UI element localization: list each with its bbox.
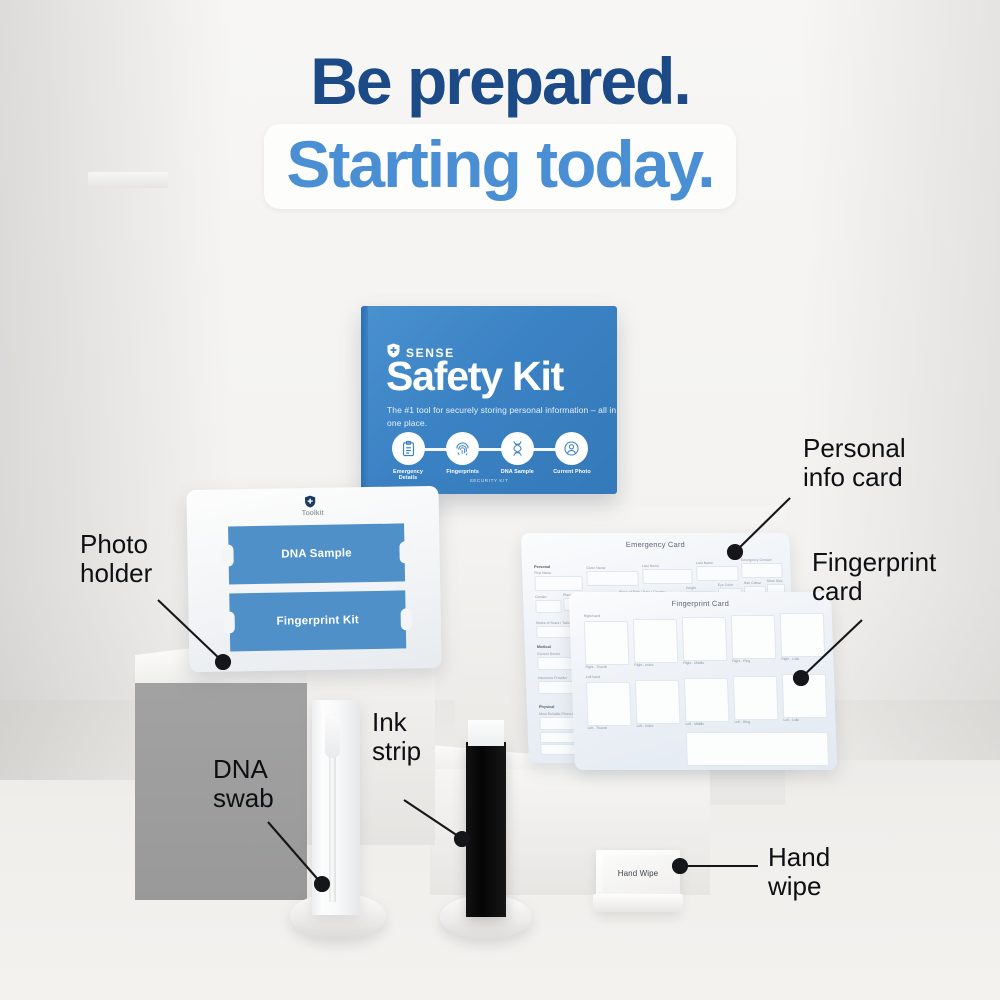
ticket-dna-sample: DNA Sample — [228, 523, 405, 584]
field-label: Insurance Provider — [538, 676, 568, 680]
hand-label-right: Right hand — [584, 614, 601, 618]
hand-wipe-tray — [593, 894, 683, 912]
finger-label: Right - Ring — [732, 659, 750, 663]
finger-label: Left - Ring — [734, 720, 750, 724]
callout-fingerprint-card: Fingerprintcard — [812, 548, 936, 606]
box-tagline: The #1 tool for securely storing persona… — [387, 404, 617, 430]
headline-block: Be prepared. Starting today. — [0, 48, 1000, 209]
field-label: Eye Color — [718, 583, 733, 587]
finger-label: Left - Index — [636, 724, 653, 728]
field-label: Given Name — [586, 566, 605, 570]
person-photo-icon — [555, 432, 588, 465]
field-label: Last Name — [696, 561, 713, 565]
photo-holder-title: Toolkit — [187, 508, 439, 519]
box-title: Safety Kit — [386, 356, 563, 397]
feature-chain: Emergency Details Fingerprints — [385, 432, 595, 481]
swab-tip — [325, 714, 340, 758]
field-label: Hair Colour — [744, 581, 762, 585]
finger-label: Left - Thumb — [587, 726, 606, 730]
ink-strip — [466, 742, 506, 917]
feature-label: Fingerprints — [440, 469, 486, 475]
emergency-card-title: Emergency Card — [521, 540, 789, 549]
feature-label: DNA Sample — [494, 469, 540, 475]
input-field[interactable] — [696, 566, 739, 581]
input-field[interactable] — [534, 576, 583, 591]
dna-helix-icon — [501, 432, 534, 465]
fingerprint-box[interactable] — [731, 615, 777, 659]
callout-dna-swab: DNAswab — [213, 755, 274, 813]
input-field[interactable] — [535, 600, 561, 613]
hand-wipe-sachet: Hand Wipe — [596, 850, 680, 912]
hand-wipe-label: Hand Wipe — [596, 869, 680, 878]
clipboard-icon — [392, 432, 425, 465]
field-label: First Name — [534, 571, 551, 575]
callout-personal-info-card: Personalinfo card — [803, 434, 906, 492]
photo-holder-card: Toolkit DNA Sample Fingerprint Kit — [186, 486, 441, 672]
field-label: Current Doctor — [537, 652, 560, 656]
fingerprint-box[interactable] — [584, 621, 630, 665]
finger-label: Right - Index — [634, 663, 653, 667]
section-physical: Physical — [539, 705, 555, 709]
field-label: Height — [686, 586, 696, 590]
fingerprint-icon — [446, 432, 479, 465]
fingerprint-card: Fingerprint Card Right hand Right - Thum… — [569, 592, 837, 770]
dna-swab — [312, 700, 360, 915]
fingerprint-box[interactable] — [682, 617, 728, 661]
section-medical: Medical — [537, 645, 551, 649]
fingerprint-box[interactable] — [586, 682, 632, 726]
section-personal: Personal — [534, 565, 550, 569]
field-label: Gender — [535, 595, 547, 599]
safety-kit-box: SENSE Safety Kit The #1 tool for securel… — [361, 306, 617, 494]
feature-emergency-details: Emergency Details — [385, 432, 431, 481]
headline-line-2: Starting today. — [286, 130, 713, 199]
finger-label: Right - Middle — [683, 661, 704, 665]
fingerprint-box[interactable] — [633, 619, 679, 663]
input-field[interactable] — [586, 571, 639, 586]
field-label: Shoe Size — [767, 579, 783, 583]
pedestal-front-left — [135, 655, 435, 900]
fingerprint-box[interactable] — [782, 674, 828, 718]
headline-line-1: Be prepared. — [0, 48, 1000, 114]
ticket-fingerprint-kit: Fingerprint Kit — [229, 590, 406, 651]
fingerprint-box[interactable] — [684, 678, 730, 722]
hand-label-left: Left hand — [586, 675, 600, 679]
ink-strip-cap — [468, 720, 504, 746]
feature-current-photo: Current Photo — [549, 432, 595, 475]
fingerprint-box[interactable] — [780, 613, 826, 657]
feature-dna-sample: DNA Sample — [494, 432, 540, 475]
callout-photo-holder: Photoholder — [80, 530, 152, 588]
palm-print-box[interactable] — [686, 732, 829, 766]
product-hero-image: Be prepared. Starting today. SENSE Safet… — [0, 0, 1000, 1000]
feature-fingerprints: Fingerprints — [440, 432, 486, 475]
fingerprint-box[interactable] — [733, 676, 779, 720]
field-label: Last Name — [642, 564, 659, 568]
callout-ink-strip: Inkstrip — [372, 708, 421, 766]
box-spine — [361, 306, 368, 494]
input-field[interactable] — [741, 563, 783, 578]
feature-label: Current Photo — [549, 469, 595, 475]
fingerprint-card-title: Fingerprint Card — [569, 599, 831, 608]
feature-label: Emergency Details — [385, 469, 431, 481]
fingerprint-box[interactable] — [635, 680, 681, 724]
finger-label: Right - Thumb — [585, 665, 607, 669]
headline-banner: Starting today. — [264, 124, 735, 209]
field-label: Emergency Contact — [741, 558, 772, 562]
finger-label: Left - Middle — [685, 722, 704, 726]
input-field[interactable] — [642, 569, 693, 584]
finger-label: Left - Little — [783, 718, 799, 722]
callout-hand-wipe: Handwipe — [768, 843, 830, 901]
finger-label: Right - Little — [781, 657, 799, 661]
